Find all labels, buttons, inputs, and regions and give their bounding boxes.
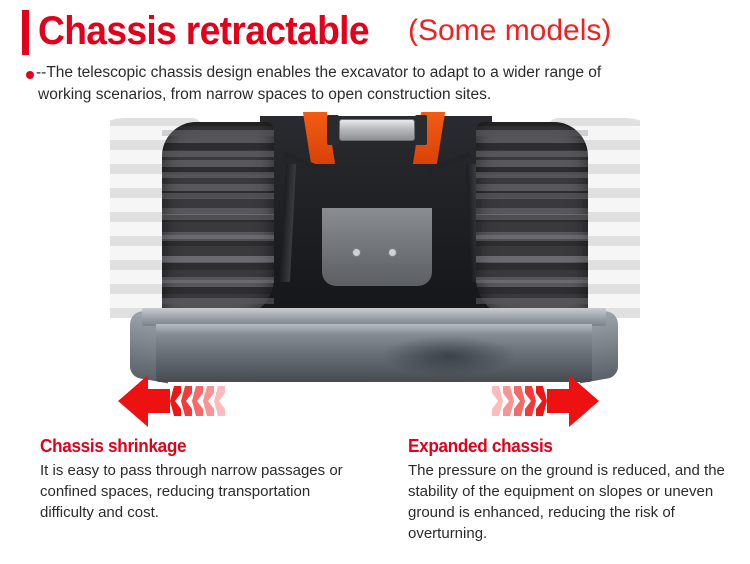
page-title-qualifier: (Some models)	[408, 11, 611, 51]
track-lug	[162, 256, 274, 262]
cylinder-cap-right	[415, 115, 427, 145]
chevron-left-icon-5	[214, 386, 225, 416]
chevron-right-icon-2	[525, 386, 536, 416]
right-chevrons	[492, 386, 547, 416]
track-lug	[162, 193, 274, 199]
track-lug	[476, 256, 588, 262]
left-chevrons	[170, 386, 225, 416]
track-left	[162, 122, 274, 318]
chevron-left-icon-4	[203, 386, 214, 416]
page-title: Chassis retractable	[38, 5, 369, 57]
intro-line-2: working scenarios, from narrow spaces to…	[38, 84, 491, 106]
track-lug	[476, 172, 588, 178]
track-lug	[162, 172, 274, 178]
track-lug	[476, 235, 588, 241]
caption-left-body: It is easy to pass through narrow passag…	[40, 460, 360, 523]
intro-line-1-row: --The telescopic chassis design enables …	[26, 62, 716, 84]
track-lug	[162, 151, 274, 157]
track-lug	[476, 193, 588, 199]
chevron-left-icon-1	[170, 386, 181, 416]
photo-inner	[110, 112, 640, 390]
track-lug	[476, 130, 588, 136]
chevron-right-icon-4	[503, 386, 514, 416]
right-arrow-group	[492, 372, 599, 430]
caption-right-title: Expanded chassis	[408, 434, 712, 458]
excavator-undercarriage-photo	[110, 112, 640, 390]
track-lug	[162, 130, 274, 136]
chevron-left-icon-2	[181, 386, 192, 416]
chevron-left-icon-3	[192, 386, 203, 416]
cylinder-cap-left	[327, 115, 339, 145]
left-arrow-group	[118, 372, 225, 430]
shield-bolt-left	[352, 248, 361, 257]
chevron-right-icon-5	[492, 386, 503, 416]
left-arrow-icon	[118, 375, 170, 427]
track-right	[476, 122, 588, 318]
caption-chassis-shrinkage: Chassis shrinkage It is easy to pass thr…	[40, 434, 360, 523]
track-lug	[476, 277, 588, 283]
track-lug	[162, 235, 274, 241]
chevron-right-icon-1	[536, 386, 547, 416]
title-accent-bar	[22, 10, 29, 55]
caption-expanded-chassis: Expanded chassis The pressure on the gro…	[408, 434, 728, 544]
track-lug	[162, 214, 274, 220]
bullet-dot-icon	[26, 71, 34, 79]
page-header: Chassis retractable (Some models)	[0, 0, 750, 62]
intro-block: --The telescopic chassis design enables …	[26, 62, 716, 84]
hydraulic-cylinder	[339, 119, 415, 141]
center-shield	[322, 208, 432, 286]
track-lug	[476, 151, 588, 157]
shield-bolt-right	[388, 248, 397, 257]
track-lug	[476, 214, 588, 220]
chevron-right-icon-3	[514, 386, 525, 416]
track-lug	[476, 298, 588, 304]
direction-arrows	[0, 372, 750, 430]
caption-left-title: Chassis shrinkage	[40, 434, 344, 458]
caption-right-body: The pressure on the ground is reduced, a…	[408, 460, 728, 544]
intro-line-1: --The telescopic chassis design enables …	[36, 62, 601, 84]
track-lug	[162, 298, 274, 304]
track-lug	[162, 277, 274, 283]
right-arrow-icon	[547, 375, 599, 427]
